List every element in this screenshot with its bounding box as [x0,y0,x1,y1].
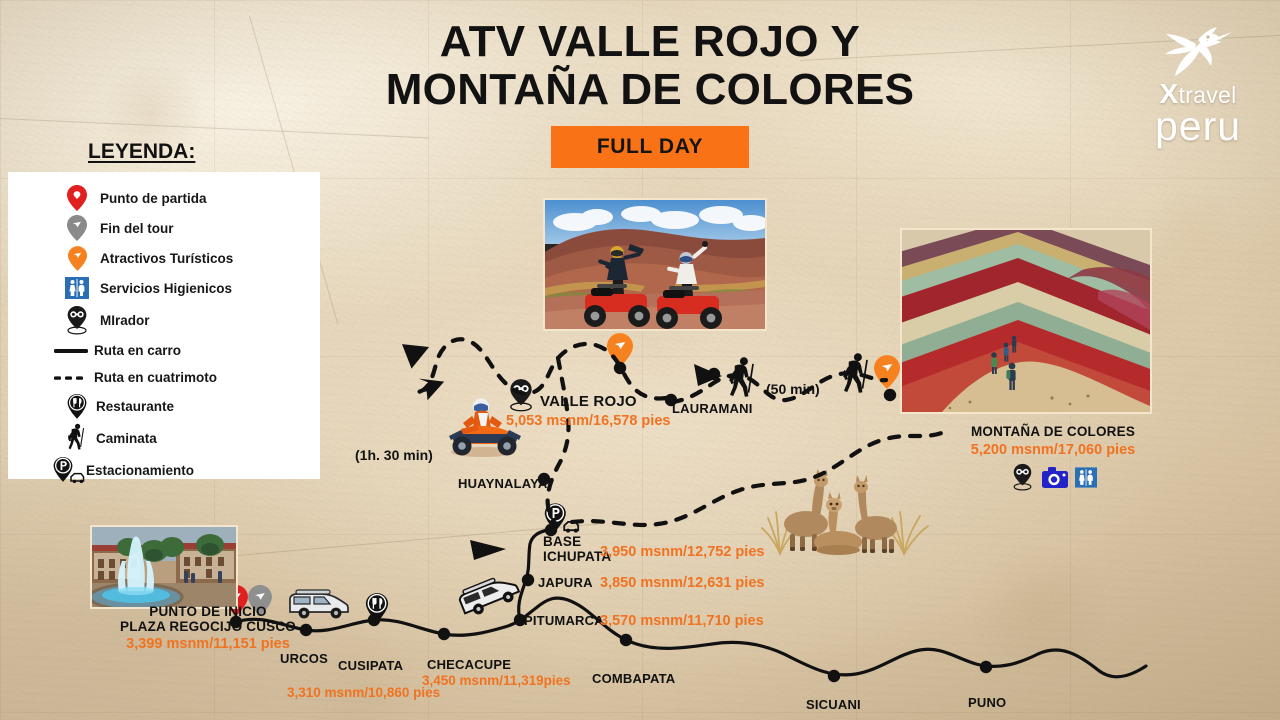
node-combapata [620,634,632,646]
node-montana [884,389,896,401]
viewpoint-icon [1010,463,1035,491]
elevation-pitumarca: 3,570 msnm/11,710 pies [600,613,764,629]
photo-atv-red-valley [543,198,767,331]
label-pitumarca: PITUMARCA [524,613,604,628]
map-pin-gray-icon [60,215,94,241]
label-valle-rojo: VALLE ROJO [540,393,637,410]
legend-item-punto-de-partida: Punto de partida [60,183,320,213]
legend-item-label: MIrador [100,313,150,328]
legend-item-label: Fin del tour [100,221,174,236]
legend-item-estacionamiento: Estacionamiento [60,454,320,487]
legend-item-fin-del-tour: Fin del tour [60,213,320,243]
viewpoint-icon [60,305,94,335]
legend-item-atractivos-turisticos: Atractivos Turísticos [60,243,320,273]
duration-label-2: (50 min) [766,381,820,397]
legend-item-label: Restaurante [96,399,174,414]
start-line-1: PUNTO DE INICIO [88,604,328,619]
restroom-icon [60,277,94,299]
label-japura: JAPURA [538,575,593,590]
node-sicuani [828,670,840,682]
restroom-icon [1075,467,1097,488]
legend-item-label: Punto de partida [100,191,207,206]
title-line-2: MONTAÑA DE COLORES [340,66,960,114]
elevation-cusipata: 3,310 msnm/10,860 pies [287,685,440,700]
atv-route-valle-rojo [418,339,666,398]
arrow-base-ichupata [470,540,506,560]
label-cusipata: CUSIPATA [338,658,403,673]
atv-route-huaynalaya [548,358,569,524]
arrow-west [412,368,448,402]
start-line-2: PLAZA REGOCIJO CUSCO [88,619,328,634]
hummingbird-icon [1134,22,1262,82]
legend-item-restaurante: Restaurante [60,391,320,422]
page-title: ATV VALLE ROJO Y MONTAÑA DE COLORES FULL… [340,18,960,168]
parking-pin-icon [52,456,86,486]
dashed-line-icon [54,374,94,382]
node-checacupe [438,628,450,640]
legend-item-label: Atractivos Turísticos [100,251,233,266]
elevation-japura: 3,850 msnm/12,631 pies [600,575,764,591]
montana-name: MONTAÑA DE COLORES [948,424,1158,439]
start-elevation: 3,399 msnm/11,151 pies [88,636,328,652]
legend-item-label: Ruta en cuatrimoto [94,370,217,385]
legend-item-ruta-en-carro: Ruta en carro [60,337,320,364]
label-huaynalaya: HUAYNALAYA [458,476,547,491]
elevation-base-ichupata: 3,950 msnm/12,752 pies [600,544,764,560]
label-puno: PUNO [968,695,1006,710]
legend-item-ruta-en-cuatrimoto: Ruta en cuatrimoto [60,364,320,391]
camera-icon [1042,467,1068,488]
full-day-badge: FULL DAY [551,126,749,168]
montana-elevation: 5,200 msnm/17,060 pies [948,442,1158,458]
legend-item-caminata: Caminata [60,422,320,454]
label-urcos: URCOS [280,651,328,666]
label-punto-de-inicio: PUNTO DE INICIO PLAZA REGOCIJO CUSCO 3,3… [88,604,328,652]
legend-item-label: Servicios Higienicos [100,281,232,296]
brand-logo: Xtravel peru [1134,22,1262,146]
legend-item-label: Caminata [96,431,157,446]
arrow-northwest [399,333,435,369]
title-line-1: ATV VALLE ROJO Y [340,18,960,66]
photo-rainbow-mountain [900,228,1152,414]
solid-line-icon [54,347,94,355]
map-pin-red-icon [60,185,94,211]
node-puno [980,661,992,673]
restaurant-pin-icon [60,393,94,421]
duration-label-1: (1h. 30 min) [355,447,433,463]
label-lauramani: LAURAMANI [672,401,753,416]
legend-item-servicios-higienicos: Servicios Higienicos [60,273,320,303]
elevation-valle-rojo: 5,053 msnm/16,578 pies [506,413,670,429]
node-cusipata [368,614,380,626]
label-combapata: COMBAPATA [592,671,675,686]
hiker-icon [60,423,94,453]
label-checacupe: CHECACUPE [427,657,511,672]
legend-item-label: Ruta en carro [94,343,181,358]
node-hike-1 [708,368,720,380]
legend-title: LEYENDA: [88,140,195,164]
node-japura [522,574,534,586]
elevation-checacupe: 3,450 msnm/11,319pies [422,673,571,688]
legend-item-label: Estacionamiento [86,463,194,478]
label-sicuani: SICUANI [806,697,861,712]
photo-plaza-regocijo-cusco [90,525,238,609]
map-pin-orange-icon [60,246,94,271]
label-montana-de-colores: MONTAÑA DE COLORES 5,200 msnm/17,060 pie… [948,424,1158,491]
legend-item-mirador: MIrador [60,303,320,337]
montana-amenity-icons [948,463,1158,491]
atv-route-east [572,432,944,525]
node-valle-rojo [614,362,626,374]
legend-panel: Punto de partida Fin del tour Atractivos… [8,172,320,479]
brand-peru: peru [1134,108,1262,146]
